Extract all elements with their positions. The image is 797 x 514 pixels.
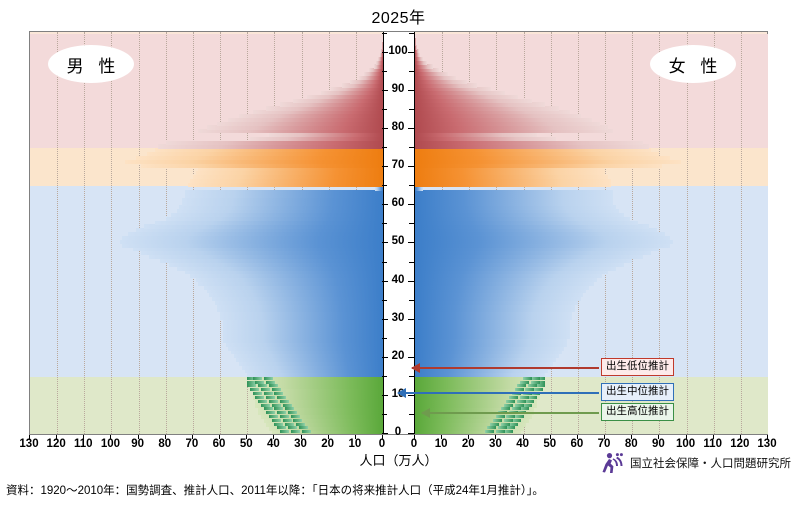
bar (415, 308, 575, 312)
bar (415, 141, 643, 145)
bar (342, 83, 383, 87)
bar (415, 346, 564, 350)
bar (415, 125, 608, 129)
population-tick (713, 435, 714, 439)
bar (280, 102, 383, 106)
projection-curve-low (415, 400, 515, 404)
bar (122, 243, 383, 247)
age-tick-label: 90 (382, 83, 414, 95)
population-tick-label: 0 (399, 438, 429, 450)
population-tick-label: 80 (150, 438, 180, 450)
projection-curve-low (415, 419, 502, 423)
bar (185, 270, 383, 274)
bar (179, 205, 383, 209)
population-tick (138, 435, 139, 439)
bar (120, 240, 383, 244)
bar (415, 68, 439, 72)
bar (415, 148, 651, 152)
legend-item-low[interactable]: 出生低位推計 (601, 358, 674, 376)
bar (415, 183, 611, 187)
bar (415, 323, 570, 327)
population-tick (441, 435, 442, 439)
bar (415, 49, 419, 53)
bar (415, 350, 562, 354)
projection-curve-low (415, 381, 529, 385)
bar (415, 243, 670, 247)
projection-curve-low (415, 384, 526, 388)
bar (415, 247, 659, 251)
bar (198, 167, 383, 171)
bar (415, 171, 605, 175)
bar (364, 72, 383, 76)
population-tick-label: 30 (286, 438, 316, 450)
bar (266, 106, 383, 110)
bar (375, 186, 383, 190)
bar (415, 266, 616, 270)
population-tick (165, 435, 166, 439)
bar (415, 160, 681, 164)
bar (217, 122, 383, 126)
bar (160, 259, 383, 263)
population-tick-label: 70 (177, 438, 207, 450)
projection-curve-low (299, 426, 383, 430)
projection-curve-low (415, 426, 496, 430)
bar (250, 137, 383, 141)
male-panel (30, 32, 383, 434)
bar (185, 190, 383, 194)
bar (415, 278, 597, 282)
population-tick (658, 435, 659, 439)
population-tick (301, 435, 302, 439)
bar (196, 278, 383, 282)
projection-curve-low (302, 430, 383, 434)
bar (198, 282, 383, 286)
bar (415, 99, 532, 103)
bar (415, 110, 570, 114)
population-tick-label: 20 (453, 438, 483, 450)
bar (209, 293, 383, 297)
bar (217, 304, 383, 308)
population-tick-label: 90 (123, 438, 153, 450)
bar (141, 163, 383, 167)
population-tick (246, 435, 247, 439)
gridline (84, 32, 85, 434)
bar (415, 358, 556, 362)
female-label: 女 性 (650, 45, 736, 83)
bar (415, 57, 423, 61)
bar (190, 274, 383, 278)
bar (415, 301, 578, 305)
projection-curve-low (415, 423, 499, 427)
bar (166, 141, 383, 145)
bar (321, 91, 383, 95)
female-panel (415, 32, 768, 434)
bar (125, 160, 383, 164)
projection-curve-low (283, 404, 383, 408)
bar (415, 369, 548, 373)
bar (223, 331, 383, 335)
bar (415, 42, 416, 46)
gridline (714, 32, 715, 434)
bar (415, 38, 416, 42)
population-tick-label: 110 (698, 438, 728, 450)
bar (144, 224, 383, 228)
age-tick-label: 0 (382, 426, 414, 438)
bar (182, 198, 383, 202)
projection-curve-low (274, 392, 383, 396)
population-tick (686, 435, 687, 439)
bar (223, 339, 383, 343)
bar (415, 205, 616, 209)
population-tick-label: 30 (480, 438, 510, 450)
bar (415, 53, 420, 57)
bar (136, 228, 383, 232)
population-tick (382, 435, 383, 439)
bar (177, 266, 383, 270)
population-tick-label: 10 (340, 438, 370, 450)
bar (415, 362, 553, 366)
axis-line-right (414, 32, 415, 434)
population-tick-label: 120 (41, 438, 71, 450)
age-tick-label: 100 (382, 45, 414, 57)
population-tick-label: 40 (508, 438, 538, 450)
population-tick-label: 110 (68, 438, 98, 450)
bar (415, 198, 613, 202)
bar (228, 118, 383, 122)
population-tick-label: 0 (367, 438, 397, 450)
projection-curve-low (288, 411, 383, 415)
bar (415, 228, 657, 232)
bar (415, 224, 649, 228)
bar (415, 240, 673, 244)
gridline (111, 32, 112, 434)
bar (415, 202, 613, 206)
bar (171, 213, 383, 217)
projection-curve-low (415, 396, 518, 400)
gridline (741, 32, 742, 434)
bar (307, 95, 383, 99)
age-tick-label: 20 (382, 350, 414, 362)
bar (415, 76, 456, 80)
bar (415, 106, 559, 110)
population-pyramid-chart: 2025年 男 性 女 性 0102030405060708090100 130… (0, 0, 797, 514)
bar (359, 76, 383, 80)
population-tick-label: 60 (204, 438, 234, 450)
population-tick-label: 40 (258, 438, 288, 450)
bar (415, 102, 545, 106)
bar (415, 304, 575, 308)
bar (239, 362, 383, 366)
bar (220, 312, 383, 316)
bar (415, 251, 651, 255)
bar (415, 83, 477, 87)
projection-curve-low (415, 377, 532, 381)
bar (226, 343, 383, 347)
bar (198, 129, 383, 133)
population-tick (273, 435, 274, 439)
projection-curve-low (291, 415, 383, 419)
bar (141, 251, 383, 255)
gridline (687, 32, 688, 434)
bar (207, 125, 384, 129)
population-tick-label: 130 (14, 438, 44, 450)
bar (415, 320, 570, 324)
bar (415, 87, 491, 91)
bar (169, 263, 384, 267)
bar (215, 301, 383, 305)
population-tick (192, 435, 193, 439)
population-tick (219, 435, 220, 439)
bar (415, 190, 613, 194)
population-tick (767, 435, 768, 439)
bar (415, 282, 594, 286)
organization-credit: 国立社会保障・人口問題研究所 (600, 452, 791, 474)
projection-curve-low (415, 430, 494, 434)
projection-curve-low (280, 400, 383, 404)
projection-curve-low (293, 419, 383, 423)
bar (155, 148, 383, 152)
bar (415, 45, 417, 49)
bar (415, 331, 570, 335)
bar (245, 369, 383, 373)
population-tick (577, 435, 578, 439)
bar (415, 156, 670, 160)
population-tick (83, 435, 84, 439)
legend-item-high[interactable]: 出生高位推計 (601, 403, 674, 421)
bar (415, 232, 665, 236)
bar (415, 335, 570, 339)
bar (223, 323, 383, 327)
bar (415, 274, 602, 278)
bar (223, 327, 383, 331)
population-tick-label: 120 (725, 438, 755, 450)
age-tick-label: 60 (382, 197, 414, 209)
population-tick-label: 70 (589, 438, 619, 450)
bar (415, 91, 505, 95)
population-tick (740, 435, 741, 439)
bar (269, 133, 383, 137)
bar (415, 114, 581, 118)
bar (253, 110, 383, 114)
bar (415, 221, 638, 225)
population-tick (29, 435, 30, 439)
bar (415, 64, 433, 68)
bar (376, 61, 383, 65)
bar (122, 236, 383, 240)
bar (136, 156, 383, 160)
institute-logo-icon (600, 452, 626, 474)
bar (217, 308, 383, 312)
bar (415, 122, 600, 126)
source-note: 資料：1920～2010年：国勢調査、推計人口、2011年以降：「日本の将来推計… (6, 482, 544, 498)
bar (415, 316, 572, 320)
bar (177, 209, 383, 213)
bar (415, 312, 572, 316)
bar (415, 293, 583, 297)
bar (190, 179, 383, 183)
bar (369, 68, 383, 72)
bar (415, 129, 613, 133)
bar (415, 270, 608, 274)
bar (415, 213, 624, 217)
bar (415, 343, 567, 347)
bar (415, 217, 630, 221)
population-tick-label: 100 (671, 438, 701, 450)
bar (166, 217, 383, 221)
bar (155, 221, 383, 225)
bar (415, 133, 537, 137)
bar (415, 61, 427, 65)
projection-curve-low (272, 388, 383, 392)
bar (212, 297, 383, 301)
population-tick (604, 435, 605, 439)
population-tick (328, 435, 329, 439)
bar (415, 209, 619, 213)
bar (415, 339, 567, 343)
population-tick-label: 20 (313, 438, 343, 450)
bar (158, 144, 383, 148)
projection-curve-low (296, 423, 383, 427)
population-tick (110, 435, 111, 439)
age-tick-label: 40 (382, 274, 414, 286)
bar (415, 194, 613, 198)
bar (415, 95, 518, 99)
chart-title: 2025年 (0, 4, 797, 28)
age-tick-label: 30 (382, 312, 414, 324)
projection-curve-low (264, 377, 383, 381)
bar (239, 114, 383, 118)
bar (415, 327, 570, 331)
bar (415, 175, 608, 179)
population-tick-label: 80 (616, 438, 646, 450)
organization-name: 国立社会保障・人口問題研究所 (630, 455, 791, 471)
population-tick-label: 50 (535, 438, 565, 450)
population-tick (355, 435, 356, 439)
projection-curve-low (277, 396, 383, 400)
bar (415, 259, 632, 263)
population-tick (550, 435, 551, 439)
male-label: 男 性 (48, 45, 134, 83)
population-tick-label: 100 (95, 438, 125, 450)
bar (415, 186, 423, 190)
age-tick-label: 50 (382, 235, 414, 247)
bar (223, 335, 383, 339)
bar (220, 316, 383, 320)
bar (374, 64, 384, 68)
projection-curve-low (269, 384, 383, 388)
bar (133, 247, 383, 251)
population-tick (468, 435, 469, 439)
projection-curve-low (285, 407, 383, 411)
gridline (57, 32, 58, 434)
bar (415, 263, 624, 267)
population-tick-label: 60 (562, 438, 592, 450)
population-tick (414, 435, 415, 439)
bar (415, 167, 605, 171)
bar (185, 194, 383, 198)
population-tick (631, 435, 632, 439)
bar (415, 144, 649, 148)
bar (204, 285, 383, 289)
age-tick-label: 80 (382, 121, 414, 133)
bar (207, 289, 384, 293)
bar (415, 72, 448, 76)
bar (415, 289, 586, 293)
bar (415, 80, 467, 84)
bar (223, 320, 383, 324)
legend-item-mid[interactable]: 出生中位推計 (601, 383, 674, 401)
age-tick-label: 70 (382, 159, 414, 171)
bar (128, 232, 383, 236)
population-tick-label: 130 (752, 438, 782, 450)
bar (415, 118, 592, 122)
bar (147, 152, 383, 156)
population-tick-label: 50 (231, 438, 261, 450)
bar (234, 354, 383, 358)
population-tick (495, 435, 496, 439)
population-tick (523, 435, 524, 439)
population-tick-label: 90 (643, 438, 673, 450)
bar (242, 365, 383, 369)
population-tick-label: 10 (426, 438, 456, 450)
bar (196, 171, 383, 175)
bar (149, 255, 383, 259)
bar (415, 137, 556, 141)
bar (415, 179, 611, 183)
bar (415, 255, 643, 259)
bar (415, 354, 559, 358)
population-tick (56, 435, 57, 439)
bar (193, 175, 383, 179)
bar (415, 285, 589, 289)
bar (415, 152, 659, 156)
bar (415, 236, 670, 240)
bar (293, 99, 383, 103)
bar (182, 202, 383, 206)
bar (331, 87, 383, 91)
bar (415, 297, 581, 301)
bar (188, 183, 384, 187)
bar (231, 350, 383, 354)
bar (228, 346, 383, 350)
bar (415, 163, 662, 167)
projection-curve-low (266, 381, 383, 385)
bar (350, 80, 383, 84)
bar (236, 358, 383, 362)
